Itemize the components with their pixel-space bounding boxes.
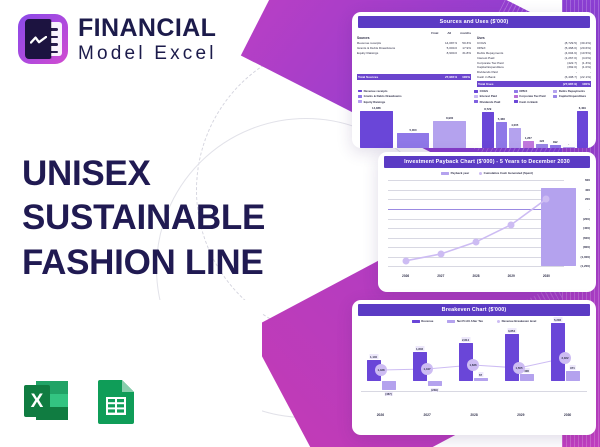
bar-column: 392 — [550, 106, 562, 148]
bar-column: 8,900 — [433, 106, 466, 148]
financial-document-chart-icon — [18, 14, 68, 64]
sources-bar-chart[interactable]: 14,088 5,000 8,900 — [352, 106, 474, 148]
headline-line-3: FASHION LINE — [22, 241, 265, 285]
chart-line-icon — [30, 36, 47, 45]
total-uses-row: Total Uses (27,987.9) 100% — [477, 81, 591, 87]
legend-item: Equity Raisings — [358, 100, 474, 104]
data-point — [402, 258, 409, 265]
legend-item: Net Profit After Tax — [447, 319, 483, 323]
page-title: UNISEX SUSTAINABLE FASHION LINE — [22, 152, 265, 285]
sources-legend: Revenue receipts Grants & Debts Drawdown… — [358, 89, 474, 104]
sources-and-uses-card[interactable]: Sources and Uses ($'000) Final All month… — [352, 12, 596, 148]
sources-uses-bar-charts: 14,088 5,000 8,900 8,729 — [352, 106, 596, 148]
payback-chart-title: Investment Payback Chart ($'000) - 5 Yea… — [384, 156, 590, 168]
revenue-bar: 3,854 — [505, 334, 519, 381]
svg-text:X: X — [31, 391, 44, 412]
breakeven-value-bubble: 1,505 — [513, 362, 525, 374]
bar-column: 5,468 — [496, 106, 508, 148]
col-header-all: All — [447, 31, 451, 35]
payback-plot-area[interactable]: 600 400 200 - (200) (400) (600) (800) (1… — [384, 180, 590, 276]
headline-line-1: UNISEX — [22, 152, 265, 196]
brand-subtitle: Model Excel — [78, 44, 217, 63]
brand-title: FINANCIAL — [78, 16, 217, 41]
sources-uses-table: Final All months Sources Revenue receipt… — [352, 28, 596, 87]
legend-item: Payback year — [441, 171, 469, 175]
y-axis-labels: 600 400 200 - (200) (400) (600) (800) (1… — [565, 180, 590, 266]
legend-item: COGS — [474, 89, 511, 93]
uses-heading: Uses — [477, 36, 591, 40]
net-profit-bar: 408 — [520, 374, 534, 381]
legend-item: Revenue receipts — [358, 89, 474, 93]
bar-group: 3,854 408 — [499, 344, 539, 404]
x-axis-labels: 2026 2027 2028 2029 2030 — [357, 413, 591, 417]
legend-item: Revenue — [412, 319, 434, 323]
investment-payback-card[interactable]: Investment Payback Chart ($'000) - 5 Yea… — [378, 152, 596, 292]
total-sources-row: Total Sources 27,987.9 100% — [357, 74, 471, 80]
legend-item: Interest Paid — [474, 94, 511, 98]
bar-column: 6,409 — [577, 106, 589, 148]
left-content-panel: FINANCIAL Model Excel UNISEX SUSTAINABLE… — [0, 0, 330, 447]
legend-item: Cash in Bank — [514, 100, 551, 104]
breakeven-value-bubble: 2,022 — [559, 352, 571, 364]
breakeven-value-bubble: 1,447 — [421, 363, 433, 375]
net-profit-bar: (467) — [382, 381, 396, 390]
bar-column: 14,088 — [360, 106, 393, 148]
net-profit-bar: 971 — [566, 371, 580, 381]
bar-column: 4,005 — [509, 106, 521, 148]
payback-legend: Payback year Cumulative Cash Generated (… — [378, 168, 596, 176]
breakeven-chart-card[interactable]: Breakeven Chart ($'000) Revenue Net Prof… — [352, 300, 596, 435]
bar-group: 1,846 (239) — [407, 352, 447, 404]
data-point — [473, 239, 480, 246]
legend-item: Capital Expenditure — [553, 94, 590, 98]
net-profit-bar: 67 — [474, 378, 488, 381]
legend-item: Debts Repayments — [553, 89, 590, 93]
table-row: Cash in Bank (6,408.7) (22.1%) — [477, 75, 591, 80]
table-row: Equity Raisings 8,900.0 31.8% — [357, 51, 471, 56]
bar-group: 5,206 971 — [545, 336, 585, 404]
data-point — [437, 251, 444, 258]
breakeven-value-bubble: 1,438 — [375, 364, 387, 376]
google-sheets-icon — [90, 375, 142, 427]
data-point — [508, 222, 515, 229]
uses-legend: COGS OPEX Debts Repayments Interest Paid… — [474, 89, 590, 104]
breakeven-plot-area[interactable]: 1,140 (467) 1,438 1,846 (239) 1,447 2,81… — [357, 329, 591, 414]
legend-item: Grants & Debts Drawdowns — [358, 94, 474, 98]
x-axis-labels: 2026 2027 2028 2029 2030 — [388, 274, 564, 278]
net-profit-bar: (239) — [428, 381, 442, 386]
sources-uses-title: Sources and Uses ($'000) — [358, 16, 590, 28]
bar-column: - — [563, 106, 575, 148]
sources-column: Final All months Sources Revenue receipt… — [357, 31, 471, 87]
uses-column: x Uses COGS (8,729.5) (30.2%) OPEX (5,46… — [477, 31, 591, 87]
bar-group: 1,140 (467) — [361, 352, 401, 404]
bar-column: 1,267 — [523, 106, 535, 148]
cumulative-cash-line — [388, 180, 564, 266]
data-point — [543, 196, 550, 203]
breakeven-chart-title: Breakeven Chart ($'000) — [358, 304, 590, 316]
legend-item: Corporate Tax Paid — [514, 94, 551, 98]
legend-item: Revenue Breakeven level — [497, 319, 536, 323]
bar-column: 5,000 — [397, 106, 430, 148]
legend-item: OPEX — [514, 89, 551, 93]
sources-heading: Sources — [357, 36, 471, 40]
col-header-months: months — [460, 31, 471, 35]
legend-item: Cumulative Cash Generated (Spent) — [479, 171, 533, 175]
breakeven-value-bubble: 1,636 — [467, 359, 479, 371]
headline-line-2: SUSTAINABLE — [22, 196, 265, 240]
bar-column: 8,729 — [482, 106, 494, 148]
sources-uses-legends: Revenue receipts Grants & Debts Drawdown… — [352, 87, 596, 104]
uses-bar-chart[interactable]: 8,729 5,468 4,005 1,267 423 — [474, 106, 596, 148]
bar-column: 423 — [536, 106, 548, 148]
microsoft-excel-icon: X — [20, 375, 72, 427]
brand-logo: FINANCIAL Model Excel — [18, 14, 217, 64]
legend-item: Dividends Paid — [474, 100, 511, 104]
col-header-final: Final — [431, 31, 438, 35]
file-format-icons: X — [20, 375, 142, 427]
